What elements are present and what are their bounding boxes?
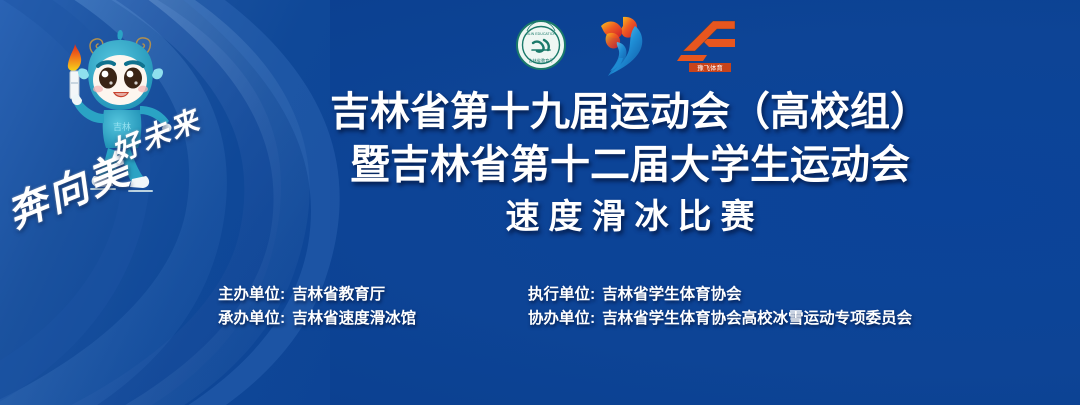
event-banner: 吉林 奔向美 好未来 JILIN EDUC (0, 0, 1080, 405)
games-phoenix-emblem-icon (593, 12, 651, 83)
organization-label: 协办单位: (528, 307, 595, 331)
organization-undertaker: 承办单位: 吉林省速度滑冰馆 (218, 307, 528, 331)
organizations-block: 主办单位: 吉林省教育厅 执行单位: 吉林省学生体育协会 承办单位: 吉林省速度… (218, 283, 1068, 331)
organization-host: 主办单位: 吉林省教育厅 (218, 283, 528, 307)
organization-value: 吉林省速度滑冰馆 (292, 307, 416, 331)
organization-value: 吉林省学生体育协会 (602, 283, 742, 307)
yufei-sports-logo-icon: 豫飞体育 (677, 17, 743, 78)
organization-row: 承办单位: 吉林省速度滑冰馆 协办单位: 吉林省学生体育协会高校冰雪运动专项委员… (218, 307, 1068, 331)
svg-text:豫飞体育: 豫飞体育 (697, 63, 723, 72)
organization-label: 主办单位: (218, 283, 285, 307)
organization-coorganizer: 协办单位: 吉林省学生体育协会高校冰雪运动专项委员会 (528, 307, 912, 331)
jilin-education-emblem-icon: JILIN EDUCATION 吉林省教育厅 (515, 19, 567, 76)
organization-executor: 执行单位: 吉林省学生体育协会 (528, 283, 742, 307)
title-line-1: 吉林省第十九届运动会（高校组） (250, 86, 1010, 139)
title-line-2: 暨吉林省第十二届大学生运动会 (250, 139, 1010, 192)
organization-value: 吉林省教育厅 (292, 283, 385, 307)
organization-label: 执行单位: (528, 283, 595, 307)
event-titles: 吉林省第十九届运动会（高校组） 暨吉林省第十二届大学生运动会 速度滑冰比赛 (250, 86, 1010, 243)
organization-value: 吉林省学生体育协会高校冰雪运动专项委员会 (602, 307, 912, 331)
svg-text:吉林省教育厅: 吉林省教育厅 (528, 57, 553, 64)
dragon-mascot: 吉林 (58, 26, 188, 201)
organization-label: 承办单位: (218, 307, 285, 331)
sponsor-logos: JILIN EDUCATION 吉林省教育厅 (515, 12, 743, 82)
svg-text:吉林: 吉林 (113, 121, 131, 132)
svg-text:JILIN EDUCATION: JILIN EDUCATION (526, 32, 557, 36)
organization-row: 主办单位: 吉林省教育厅 执行单位: 吉林省学生体育协会 (218, 283, 1068, 307)
title-line-3: 速度滑冰比赛 (250, 192, 1010, 243)
